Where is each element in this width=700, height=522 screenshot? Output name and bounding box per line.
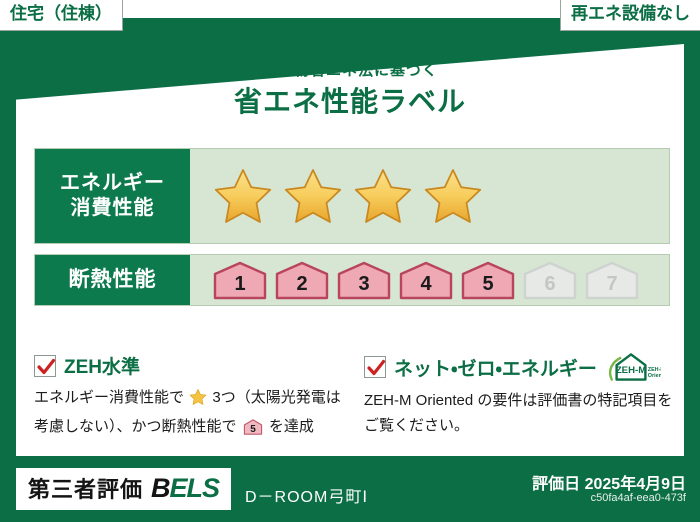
rating-rows: エネルギー 消費性能 断熱性能 1234567 — [34, 148, 670, 316]
label-title-block: 建築物省エネ法に基づく 省エネ性能ラベル — [0, 62, 700, 119]
bels-badge: 第三者評価 BELS — [16, 468, 231, 510]
row-energy-label-line2: 消費性能 — [71, 196, 155, 221]
evaluation-date: 評価日 2025年4月9日 — [532, 470, 686, 494]
note-zeh-standard: ZEH水準 エネルギー消費性能で 3つ（太陽光発電は考慮しない）、かつ断熱性能で… — [34, 352, 344, 445]
notes-section: ZEH水準 エネルギー消費性能で 3つ（太陽光発電は考慮しない）、かつ断熱性能で… — [34, 352, 674, 445]
bels-logo-b: B — [151, 473, 170, 503]
badge-renewable-equipment: 再エネ設備なし — [560, 0, 700, 31]
note-zeh-title: ZEH水準 — [64, 352, 140, 379]
badge-building-type: 住宅（住棟） — [0, 0, 123, 31]
zeh-m-oriented-logo-icon: ZEH-M ZEH-M Oriented — [607, 352, 661, 382]
house-level-1: 1 — [212, 260, 268, 300]
energy-performance-label: 住宅（住棟） 再エネ設備なし 建築物省エネ法に基づく 省エネ性能ラベル エネルギ… — [0, 0, 700, 522]
svg-text:Oriented: Oriented — [648, 373, 661, 379]
house-scale: 1234567 — [212, 260, 640, 300]
evaluation-date-value: 2025年4月9日 — [585, 476, 686, 493]
checkbox-checked-icon — [364, 356, 386, 378]
house-level-4: 4 — [398, 260, 454, 300]
house-level-number: 3 — [358, 273, 369, 296]
bels-logo-els: ELS — [170, 473, 220, 503]
note-zeh-header: ZEH水準 — [34, 352, 344, 379]
bels-third-party-label: 第三者評価 — [28, 472, 143, 504]
row-energy-label-line1: エネルギー — [60, 171, 165, 196]
row-insulation-label: 断熱性能 — [35, 255, 190, 305]
note-nze-body: ZEH-M Oriented の要件は評価書の特記項目をご覧ください。 — [364, 389, 674, 439]
inline-house-badge-icon: 5 — [239, 423, 267, 440]
bels-logo: BELS — [151, 473, 219, 504]
note-nze-title: ネット・ゼロ・エネルギー — [394, 354, 597, 381]
evaluation-date-label: 評価日 — [532, 476, 580, 493]
svg-text:5: 5 — [250, 424, 256, 435]
row-energy-consumption: エネルギー 消費性能 — [34, 148, 670, 244]
title-subtitle: 建築物省エネ法に基づく — [0, 62, 700, 80]
note-nze-header: ネット・ゼロ・エネルギー ZEH-M ZEH-M Oriented — [364, 352, 674, 382]
svg-text:ZEH-M: ZEH-M — [648, 367, 661, 373]
house-level-number: 7 — [606, 273, 617, 296]
footer-bar: 第三者評価 BELS D－ROOM弓町Ⅰ 評価日 2025年4月9日 c50fa… — [0, 456, 700, 522]
svg-text:ZEH-M: ZEH-M — [616, 365, 646, 376]
note-net-zero-energy: ネット・ゼロ・エネルギー ZEH-M ZEH-M Oriented ZEH-M … — [364, 352, 674, 445]
row-energy-value — [190, 149, 669, 243]
star-filled-icon — [422, 166, 484, 226]
house-level-6: 6 — [522, 260, 578, 300]
star-filled-icon — [212, 166, 274, 226]
checkbox-checked-icon — [34, 355, 56, 377]
house-level-2: 2 — [274, 260, 330, 300]
house-level-number: 5 — [482, 273, 493, 296]
star-filled-icon — [352, 166, 414, 226]
page-title: 省エネ性能ラベル — [0, 85, 700, 119]
house-level-number: 6 — [544, 273, 555, 296]
building-name: D－ROOM弓町Ⅰ — [245, 483, 368, 507]
row-insulation-performance: 断熱性能 1234567 — [34, 254, 670, 306]
note-zeh-body-part3: を達成 — [269, 418, 314, 435]
inline-star-icon — [185, 393, 211, 410]
house-level-7: 7 — [584, 260, 640, 300]
row-insulation-value: 1234567 — [190, 255, 669, 305]
star-filled-icon — [282, 166, 344, 226]
house-level-3: 3 — [336, 260, 392, 300]
row-energy-label: エネルギー 消費性能 — [35, 149, 190, 243]
house-level-number: 4 — [420, 273, 431, 296]
note-zeh-body: エネルギー消費性能で 3つ（太陽光発電は考慮しない）、かつ断熱性能で 5 を達成 — [34, 386, 344, 445]
note-zeh-body-part1: エネルギー消費性能で — [34, 389, 184, 406]
house-level-number: 1 — [234, 273, 245, 296]
evaluation-id: c50fa4af-eea0-473f — [591, 492, 686, 504]
house-level-number: 2 — [296, 273, 307, 296]
star-rating — [212, 166, 484, 226]
house-level-5: 5 — [460, 260, 516, 300]
